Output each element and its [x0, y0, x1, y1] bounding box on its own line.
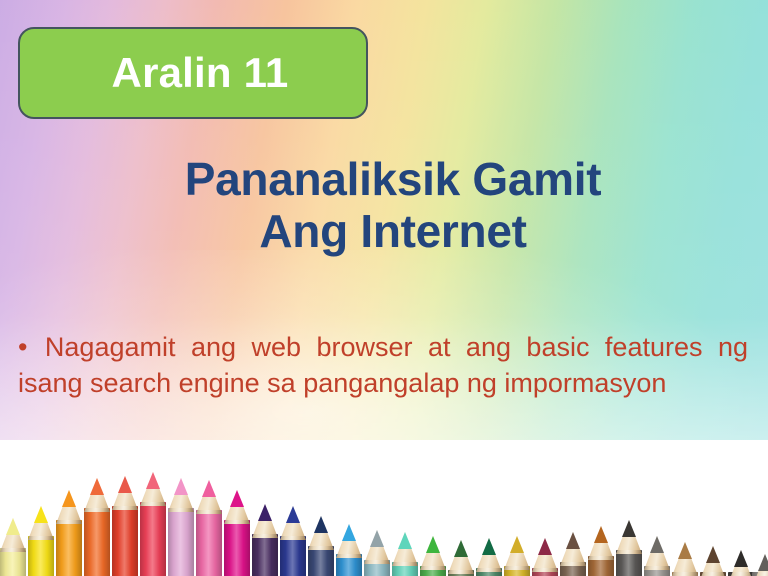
pencil-tip	[426, 536, 440, 553]
pencil	[140, 472, 166, 576]
pencil	[56, 490, 82, 576]
pencil	[700, 546, 726, 576]
pencil	[644, 536, 670, 576]
pencil-barrel	[0, 548, 26, 576]
slide-title-line-1: Pananaliksik Gamit	[18, 154, 768, 206]
pencil-tip	[758, 554, 768, 571]
lesson-number-badge: Aralin 11	[18, 27, 368, 119]
pencil-tip	[258, 504, 272, 521]
pencil-barrel	[84, 508, 110, 576]
pencil	[112, 476, 138, 576]
pencil	[420, 536, 446, 576]
pencil-tip	[118, 476, 132, 493]
pencil-tip	[370, 530, 384, 547]
pencil	[448, 540, 474, 576]
pencil	[728, 550, 754, 576]
pencil-barrel	[224, 520, 250, 576]
pencil-tip	[34, 506, 48, 523]
pencil	[616, 520, 642, 576]
pencil	[308, 516, 334, 576]
pencil	[504, 536, 530, 576]
pencil-barrel	[280, 536, 306, 576]
pencil-tip	[454, 540, 468, 557]
pencil	[224, 490, 250, 576]
pencil-tip	[286, 506, 300, 523]
lesson-number-label: Aralin 11	[98, 52, 289, 94]
pencil	[252, 504, 278, 576]
pencil-tip	[734, 550, 748, 567]
colored-pencils-image	[0, 440, 768, 576]
pencil	[588, 526, 614, 576]
pencil	[280, 506, 306, 576]
slide-title-line-2: Ang Internet	[18, 206, 768, 258]
pencil-tip	[342, 524, 356, 541]
pencil-tip	[90, 478, 104, 495]
pencil	[672, 542, 698, 576]
pencil-tip	[202, 480, 216, 497]
slide-title: Pananaliksik Gamit Ang Internet	[0, 154, 768, 257]
pencil-barrel	[28, 536, 54, 576]
pencil-tip	[678, 542, 692, 559]
pencil-barrel	[56, 520, 82, 576]
pencil	[84, 478, 110, 576]
pencil-tip	[510, 536, 524, 553]
pencil-tip	[650, 536, 664, 553]
pencil-barrel	[308, 546, 334, 576]
objective-bullet-item: • Nagagamit ang web browser at ang basic…	[18, 330, 748, 401]
pencil	[476, 538, 502, 576]
pencil-tip	[6, 518, 20, 535]
pencil-tip	[566, 532, 580, 549]
pencil	[336, 524, 362, 576]
pencil	[168, 478, 194, 576]
pencil	[196, 480, 222, 576]
pencil-tip	[230, 490, 244, 507]
pencil-tip	[146, 472, 160, 489]
objective-bullet-text: Nagagamit ang web browser at ang basic f…	[18, 332, 748, 398]
pencil-tip	[174, 478, 188, 495]
pencil-barrel	[196, 510, 222, 576]
pencil-tip	[706, 546, 720, 563]
pencil	[28, 506, 54, 576]
pencil	[560, 532, 586, 576]
pencil	[0, 518, 26, 576]
pencil-barrel	[140, 502, 166, 576]
pencil	[752, 554, 768, 576]
pencil-tip	[594, 526, 608, 543]
pencil	[532, 538, 558, 576]
pencil-tip	[482, 538, 496, 555]
pencil-tip	[62, 490, 76, 507]
presentation-slide: Aralin 11 Pananaliksik Gamit Ang Interne…	[0, 0, 768, 576]
bullet-point-icon: •	[18, 332, 27, 362]
pencil	[392, 532, 418, 576]
pencil-barrel	[112, 506, 138, 576]
pencil-barrel	[168, 508, 194, 576]
pencil-tip	[398, 532, 412, 549]
pencil	[364, 530, 390, 576]
pencil-tip	[538, 538, 552, 555]
pencil-barrel	[252, 534, 278, 576]
pencil-tip	[622, 520, 636, 537]
pencil-tip	[314, 516, 328, 533]
